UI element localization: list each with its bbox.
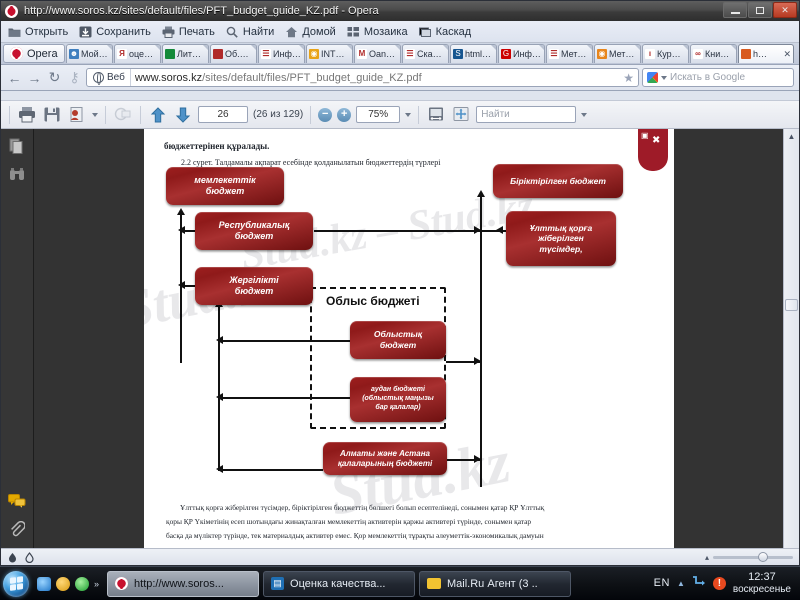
tab-label: Кур… (657, 49, 681, 59)
google-icon (647, 72, 658, 83)
tab-corner-fold (395, 45, 400, 50)
search-placeholder: Искать в Google (670, 72, 745, 83)
clock-time: 12:37 (733, 571, 791, 584)
box-label: Ұлттық қорға жіберілген түсімдер, (530, 223, 592, 255)
pdf-fit-page-button[interactable] (451, 105, 471, 125)
tab-corner-fold (299, 45, 304, 50)
find-button[interactable]: Найти (223, 25, 280, 39)
opera-menu-button[interactable]: Opera (3, 44, 65, 63)
windows-flag-icon (10, 576, 23, 591)
scroll-up-icon[interactable]: ▲ (784, 129, 799, 143)
quick-launch: » (33, 577, 103, 591)
pdf-zoom-out-button[interactable]: − (318, 108, 332, 122)
pdf-fit-width-button[interactable] (426, 105, 446, 125)
address-bar: ← → ↻ ⚷ Веб www.soros.kz/sites/default/f… (1, 65, 799, 91)
box-combined-budget: Біріктірілген бюджет (493, 164, 623, 198)
opera-logo-icon (5, 5, 18, 18)
arrow-left-icon (216, 465, 223, 473)
tile-label: Мозаика (364, 26, 408, 38)
arrow-left-icon (216, 336, 223, 344)
page-icon: ☰ (261, 49, 271, 59)
box-label: аудан бюджеті (облыстық маңызы бар қалал… (362, 386, 434, 412)
title-bar: http://www.soros.kz/sites/default/files/… (1, 1, 799, 21)
browser-tab[interactable]: ☰Инф… (258, 44, 305, 63)
taskbar-button-excel[interactable]: ▤ Оценка качества... (263, 571, 415, 597)
doc-line-above: бюджеттерінен құралады. (164, 141, 269, 151)
page-icon: ☰ (405, 49, 415, 59)
browser-tab[interactable]: Об.… (210, 44, 257, 63)
utorrent-icon[interactable] (56, 577, 70, 591)
window-controls: ✕ (723, 2, 797, 18)
close-button[interactable]: ✕ (773, 2, 797, 18)
connector-line (218, 307, 220, 469)
tab-label: h… (753, 49, 767, 59)
pdf-zoom-value[interactable]: 75% (356, 106, 400, 123)
yandex-icon: Я (117, 49, 127, 59)
pages-icon[interactable] (7, 137, 27, 155)
tab-corner-fold (539, 45, 544, 50)
tab-label: Мет… (561, 49, 586, 59)
tab-label: INT… (321, 49, 345, 59)
taskbar-button-opera[interactable]: http://www.soros... (107, 571, 259, 597)
back-button[interactable]: ← (6, 69, 23, 86)
alert-icon[interactable]: ! (713, 577, 726, 590)
quick-launch-more[interactable]: » (94, 579, 99, 589)
divider (310, 106, 311, 124)
box-local-budget: Жергілікті бюджет (195, 267, 313, 305)
pdf-body: Stud.kz Stud.kz – Stud.kz Stud.kz ▣ ✖ бю… (1, 129, 799, 548)
red-icon (213, 49, 223, 59)
minimize-button[interactable] (723, 2, 747, 18)
find-label: Найти (243, 26, 274, 38)
g-icon: G (501, 49, 511, 59)
doc-paragraph-line: Ұлттық қорға жіберілген түсімдер, бірікт… (166, 503, 544, 512)
tile-icon (347, 26, 360, 38)
browser-tab[interactable]: Shtml… (450, 44, 497, 63)
browser-tab[interactable]: ☻Мой… (66, 44, 113, 63)
print-label: Печать (179, 26, 215, 38)
box-oblast-budget: Облыстық бюджет (350, 321, 446, 359)
pdf-sidebar (1, 129, 34, 548)
s-icon: S (453, 49, 463, 59)
taskbar-button-label: Mail.Ru Агент (3 .. (447, 578, 538, 590)
box-label: Алматы және Астана қалаларының бюджеті (338, 449, 432, 469)
zoom-caret-icon[interactable]: ▴ (705, 553, 709, 562)
box-label: мемлекеттік бюджет (194, 175, 255, 198)
opera-menu-label: Opera (27, 48, 58, 60)
box-national-fund: Ұлттық қорға жіберілген түсімдер, (506, 211, 616, 266)
pdf-zoom-caret-icon[interactable] (405, 113, 411, 117)
ie-icon[interactable] (37, 577, 51, 591)
bookmark-x-icon: ✖ (652, 135, 660, 146)
save-icon (79, 26, 92, 38)
attachments-icon[interactable] (7, 520, 27, 538)
tab-label: html… (465, 49, 491, 59)
divider (418, 106, 419, 124)
open-button[interactable]: Открыть (5, 25, 74, 39)
pdf-print-button[interactable] (17, 105, 37, 125)
connector-line (314, 230, 481, 232)
print-button[interactable]: Печать (159, 25, 221, 39)
pdf-toolbar: 26 (26 из 129) − + 75% Найти (1, 101, 799, 129)
browser-tab[interactable]: Яоце… (114, 44, 161, 63)
cascade-label: Каскад (436, 26, 472, 38)
m-icon: M (357, 49, 367, 59)
pdf-status-bar: ▴ (1, 548, 799, 565)
zoom-slider[interactable]: ▴ (705, 553, 793, 562)
box-label: Республикалық бюджет (219, 220, 290, 243)
connector-line (180, 215, 182, 363)
browser-tab[interactable]: ☰Ска… (402, 44, 449, 63)
box-label: Біріктірілген бюджет (510, 176, 606, 187)
search-input[interactable]: Искать в Google (642, 68, 794, 87)
system-tray: EN ▲ ! 12:37 воскресенье (654, 571, 797, 595)
home-label: Домой (302, 26, 336, 38)
pdf-next-page-button[interactable] (173, 105, 193, 125)
tab-corner-fold (107, 45, 112, 50)
pdf-email-button[interactable] (113, 105, 133, 125)
pdf-page-count-label: (26 из 129) (253, 109, 303, 120)
arrow-up-icon (477, 190, 485, 197)
opera-icon (10, 47, 23, 60)
url-path: /sites/default/files/PFT_budget_guide_KZ… (202, 72, 422, 84)
url-text: www.soros.kz/sites/default/files/PFT_bud… (135, 72, 619, 84)
taskbar-button-mailru[interactable]: Mail.Ru Агент (3 .. (419, 571, 571, 597)
search-binoculars-icon[interactable] (7, 165, 27, 183)
tab-label: Мой… (81, 49, 108, 59)
save-label: Сохранить (96, 26, 151, 38)
url-input[interactable]: Веб www.soros.kz/sites/default/files/PFT… (86, 68, 639, 87)
pdf-page-input[interactable]: 26 (198, 106, 248, 123)
restore-button[interactable] (748, 2, 772, 18)
opera-main-toolbar: Открыть Сохранить Печать Найти Домой (1, 21, 799, 43)
tab-list: ☻Мой…Яоце…Лит…Об.…☰Инф…◉INT…MOan…☰Ска…Sh… (66, 44, 794, 64)
zoom-slider-knob[interactable] (758, 552, 768, 562)
connector-line (218, 469, 323, 471)
person-icon: ı (645, 49, 655, 59)
taskbar-button-label: http://www.soros... (134, 578, 224, 590)
divider (105, 106, 106, 124)
arrow-left-icon (178, 226, 185, 234)
browser-tab[interactable]: MOan… (354, 44, 401, 63)
pdf-save-button[interactable] (42, 105, 62, 125)
cascade-icon (419, 26, 432, 38)
reload-button[interactable]: ↻ (46, 69, 63, 86)
tab-label: Об.… (225, 49, 249, 59)
clock[interactable]: 12:37 воскресенье (733, 571, 791, 595)
tab-corner-fold (587, 45, 592, 50)
web-badge[interactable]: Веб (91, 69, 131, 86)
browser-tab[interactable]: h…✕ (738, 44, 794, 63)
chevron-down-icon[interactable] (661, 76, 667, 80)
printer-icon (162, 26, 175, 38)
window-title: http://www.soros.kz/sites/default/files/… (24, 5, 379, 17)
arrow-right-icon (474, 455, 481, 463)
comments-icon[interactable] (7, 492, 27, 510)
excel-icon: ▤ (271, 577, 284, 590)
blob-outline-icon (24, 552, 35, 563)
taskbar-button-label: Оценка качества... (290, 578, 385, 590)
tab-label: Инф… (273, 49, 301, 59)
orange-icon: ◉ (597, 49, 607, 59)
browser-tab[interactable]: ◉INT… (306, 44, 353, 63)
zoom-slider-track[interactable] (713, 556, 793, 559)
pdf-icon (741, 49, 751, 59)
doc-figure-caption: 2.2 сурет. Талдамалы ақпарат есебінде қо… (181, 158, 440, 167)
browser-tab[interactable]: GИнф… (498, 44, 545, 63)
page-icon: ☰ (549, 49, 559, 59)
box-state-budget: мемлекеттік бюджет (166, 167, 284, 205)
opera-icon (115, 577, 128, 590)
cascade-button[interactable]: Каскад (416, 25, 478, 39)
doc-paragraph-line: басқа да мүліктер түрінде, тек материалд… (166, 531, 544, 540)
tab-close-icon[interactable]: ✕ (783, 49, 791, 60)
forward-button[interactable]: → (26, 69, 43, 86)
mail-icon (427, 578, 441, 589)
pdf-sign-button[interactable] (67, 105, 87, 125)
url-host: www.soros.kz (135, 72, 202, 84)
box-label: Облыстық бюджет (374, 329, 422, 350)
book-icon: ∞ (693, 49, 703, 59)
doc-paragraph-line: қоры ҚР Үкіметінің есеп шотындағы жинақт… (166, 517, 531, 526)
tile-button[interactable]: Мозаика (344, 25, 414, 39)
pdf-find-input[interactable]: Найти (476, 106, 576, 123)
box-republic-budget: Республикалық бюджет (195, 212, 313, 250)
orange-icon: ◉ (309, 49, 319, 59)
box-district-budget: аудан бюджеті (облыстық маңызы бар қалал… (350, 377, 446, 422)
tab-label: Лит… (177, 49, 201, 59)
pdf-toolbar-spacer (1, 91, 799, 101)
app-green-icon[interactable] (75, 577, 89, 591)
tab-corner-fold (251, 45, 256, 50)
save-button[interactable]: Сохранить (76, 25, 157, 39)
web-badge-label: Веб (107, 72, 125, 83)
flag-icon (165, 49, 175, 59)
bookmark-doc-icon: ▣ (641, 131, 649, 140)
box-cities-budget: Алматы және Астана қалаларының бюджеті (323, 442, 447, 475)
tab-corner-fold (155, 45, 160, 50)
open-label: Открыть (25, 26, 68, 38)
browser-tab[interactable]: ☰Мет… (546, 44, 593, 63)
browser-tab[interactable]: Лит… (162, 44, 209, 63)
pdf-sign-caret-icon[interactable] (92, 113, 98, 117)
taskbar: » http://www.soros... ▤ Оценка качества.… (0, 566, 800, 600)
scrollbar-thumb[interactable] (785, 299, 798, 311)
show-hidden-icons-button[interactable]: ▲ (677, 579, 685, 588)
clock-day: воскресенье (733, 584, 791, 596)
divider (140, 106, 141, 124)
pdf-vertical-scrollbar[interactable]: ▲ (783, 129, 799, 548)
pdf-page: Stud.kz Stud.kz – Stud.kz Stud.kz ▣ ✖ бю… (144, 129, 674, 548)
arrow-up-icon (177, 208, 185, 215)
tab-label: Oan… (369, 49, 395, 59)
bookmark-star-icon[interactable]: ★ (623, 71, 634, 85)
tab-corner-fold (347, 45, 352, 50)
arrow-right-icon (474, 357, 481, 365)
people-icon: ☻ (69, 49, 79, 59)
windows-start-icon[interactable] (3, 571, 29, 597)
tab-label: Мет… (609, 49, 634, 59)
browser-tab[interactable]: ◉Мет… (594, 44, 641, 63)
tab-label: Инф… (513, 49, 541, 59)
tab-label: оце… (129, 49, 153, 59)
tab-corner-fold (203, 45, 208, 50)
tab-corner-fold (635, 45, 640, 50)
tab-corner-fold (443, 45, 448, 50)
security-key-icon[interactable]: ⚷ (66, 69, 83, 86)
pdf-zoom-in-button[interactable]: + (337, 108, 351, 122)
browser-tab[interactable]: ∞Кни… (690, 44, 737, 63)
box-label: Жергілікті бюджет (229, 275, 278, 298)
tab-corner-fold (683, 45, 688, 50)
pdf-find-caret-icon[interactable] (581, 113, 587, 117)
pdf-viewer: 26 (26 из 129) − + 75% Найти (1, 91, 799, 565)
tab-corner-fold (731, 45, 736, 50)
opera-window: http://www.soros.kz/sites/default/files/… (0, 0, 800, 566)
home-icon (285, 26, 298, 38)
arrow-left-icon (178, 281, 185, 289)
language-indicator[interactable]: EN (654, 577, 670, 589)
divider (9, 106, 10, 124)
oblast-group-title: Облыс бюджеті (326, 294, 420, 308)
new-tab-button[interactable]: ✛ (795, 44, 799, 63)
tab-label: Кни… (705, 49, 729, 59)
search-icon (226, 26, 239, 38)
globe-icon (93, 72, 104, 83)
home-button[interactable]: Домой (282, 25, 342, 39)
connector-line (480, 197, 482, 487)
blob-icon (7, 552, 18, 563)
browser-tab[interactable]: ıКур… (642, 44, 689, 63)
pdf-prev-page-button[interactable] (148, 105, 168, 125)
arrow-left-icon (496, 226, 503, 234)
tab-corner-fold (491, 45, 496, 50)
tab-label: Ска… (417, 49, 442, 59)
tab-strip: Opera ☻Мой…Яоце…Лит…Об.…☰Инф…◉INT…MOan…☰… (1, 43, 799, 65)
arrow-left-icon (216, 393, 223, 401)
page-bookmark-flag: ▣ ✖ (638, 129, 668, 171)
network-icon[interactable] (692, 575, 706, 591)
folder-icon (8, 26, 21, 38)
